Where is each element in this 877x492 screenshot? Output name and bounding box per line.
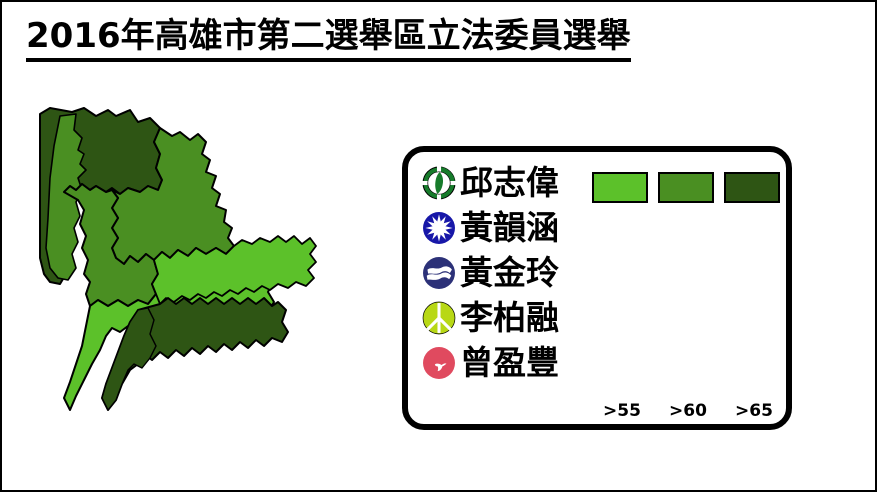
map-svg: [20, 98, 380, 468]
scale-label-0: >55: [594, 401, 650, 421]
candidate-name: 邱志偉: [460, 165, 559, 201]
choropleth-map: [20, 98, 380, 468]
candidate-name: 黃韻涵: [460, 210, 559, 246]
title-container: 2016年高雄市第二選舉區立法委員選舉: [26, 16, 746, 62]
dpp-logo-icon: [422, 166, 456, 200]
kmt-logo-icon: [422, 211, 456, 245]
candidate-name: 李柏融: [460, 300, 559, 336]
legend-panel: 邱志偉: [402, 146, 792, 430]
color-scale-swatches: [592, 172, 780, 203]
swatch-2[interactable]: [724, 172, 780, 203]
sdp-logo-icon: [422, 346, 456, 380]
green-party-logo-icon: [422, 301, 456, 335]
page-title: 2016年高雄市第二選舉區立法委員選舉: [26, 16, 631, 62]
list-item[interactable]: 黃韻涵: [422, 205, 622, 250]
candidate-name: 曾盈豐: [460, 345, 559, 381]
candidate-name: 黃金玲: [460, 255, 559, 291]
list-item[interactable]: 黃金玲: [422, 250, 622, 295]
swatch-0[interactable]: [592, 172, 648, 203]
list-item[interactable]: 李柏融: [422, 295, 622, 340]
election-map-infographic: 2016年高雄市第二選舉區立法委員選舉: [0, 0, 877, 492]
scale-label-1: >60: [660, 401, 716, 421]
scale-label-2: >65: [726, 401, 782, 421]
swatch-1[interactable]: [658, 172, 714, 203]
pfp-logo-icon: [422, 256, 456, 290]
color-scale-labels: >55 >60 >65: [594, 401, 782, 421]
list-item[interactable]: 曾盈豐: [422, 340, 622, 385]
